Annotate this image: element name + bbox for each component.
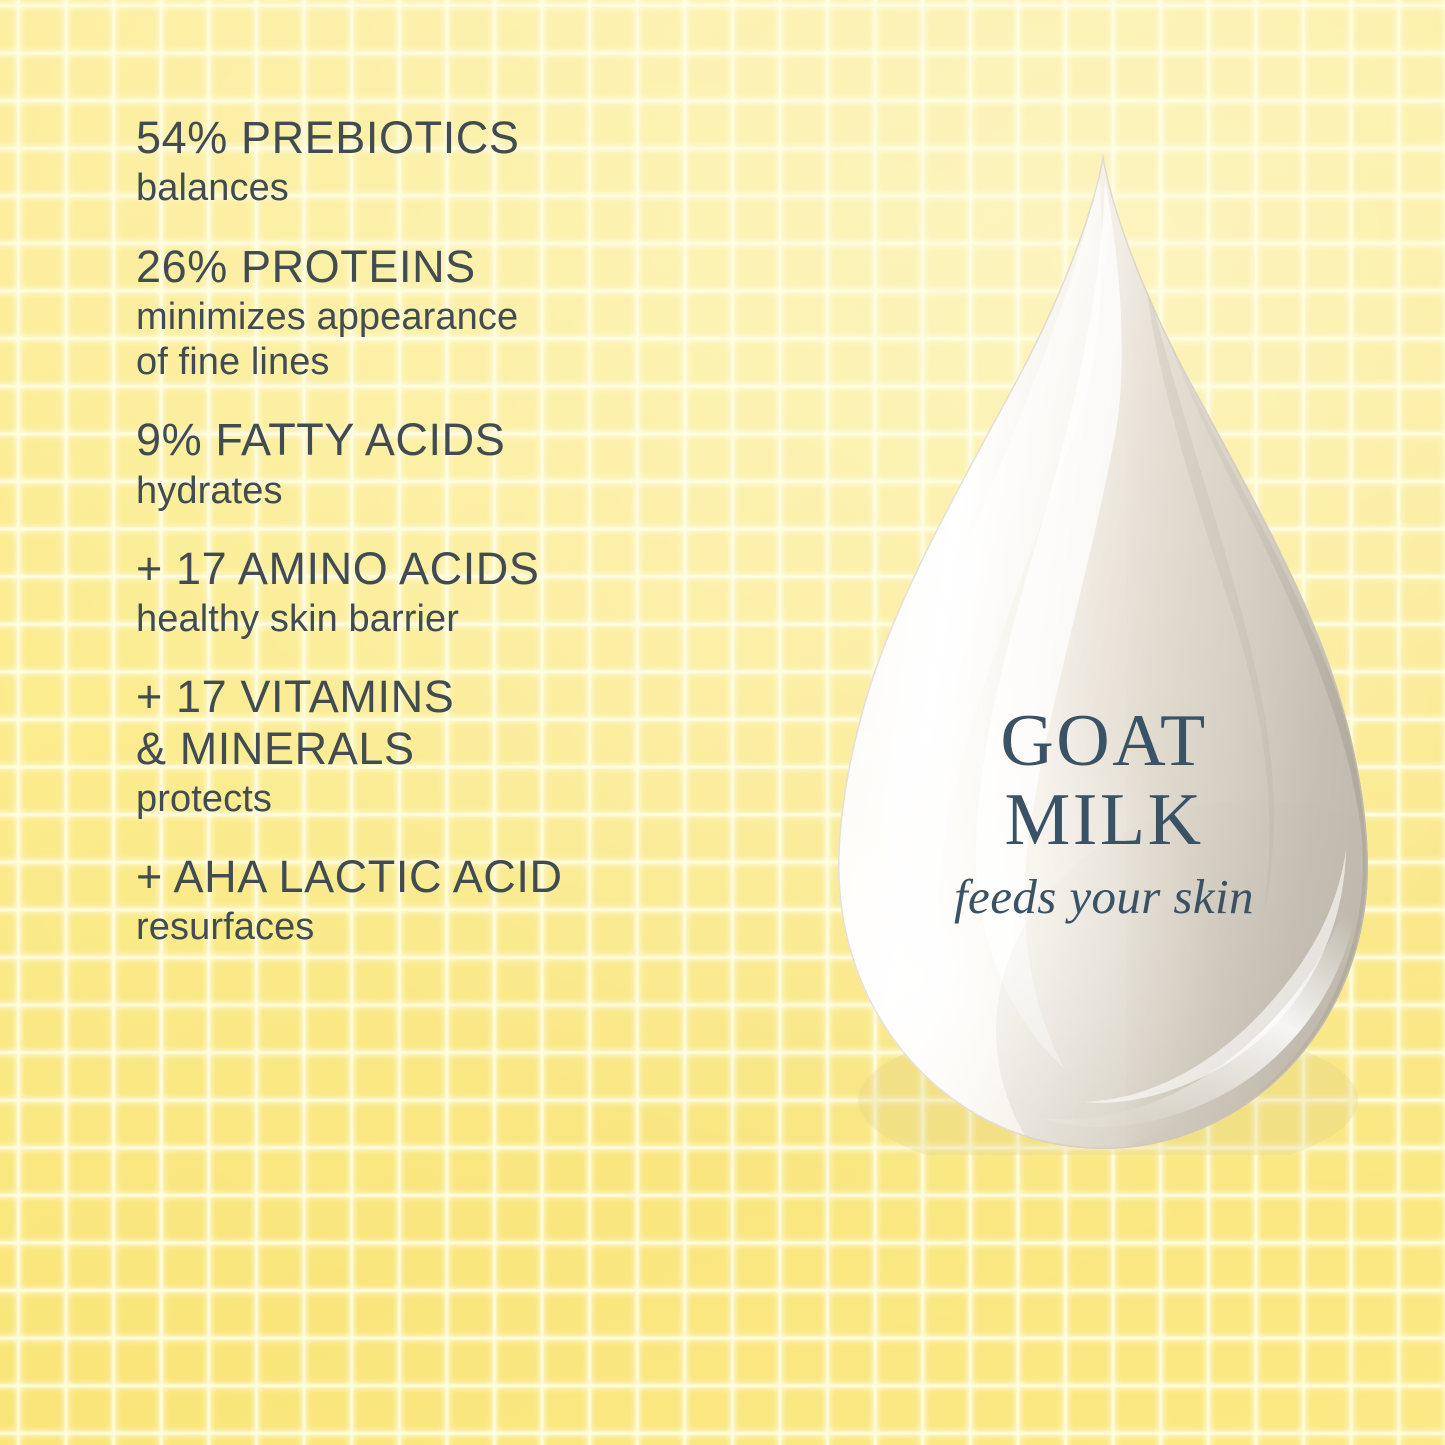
benefit-headline: + 17 AMINO ACIDS [136,543,826,594]
benefit-item-amino-acids: + 17 AMINO ACIDS healthy skin barrier [136,543,826,643]
benefit-subtext: minimizes appearance of fine lines [136,295,826,385]
benefit-headline: 26% PROTEINS [136,241,826,292]
benefit-subtext: healthy skin barrier [136,597,826,642]
benefit-item-prebiotics: 54% PREBIOTICS balances [136,112,826,212]
benefit-subtext: hydrates [136,469,826,514]
milk-droplet-icon [826,150,1382,1155]
benefit-subtext: balances [136,166,826,211]
benefit-headline: + 17 VITAMINS & MINERALS [136,671,826,774]
benefit-item-vitamins-minerals: + 17 VITAMINS & MINERALS protects [136,671,826,822]
benefits-list: 54% PREBIOTICS balances 26% PROTEINS min… [136,112,826,980]
benefit-headline: 9% FATTY ACIDS [136,414,826,465]
droplet-tagline: feeds your skin [826,870,1382,924]
goat-milk-infographic: 54% PREBIOTICS balances 26% PROTEINS min… [0,0,1445,1445]
benefit-item-proteins: 26% PROTEINS minimizes appearance of fin… [136,241,826,386]
benefit-subtext: protects [136,777,826,822]
droplet-text-block: GOAT MILK feeds your skin [826,705,1382,924]
droplet-title-line1: GOAT [826,705,1382,778]
droplet-title-line2: MILK [826,782,1382,858]
benefit-headline: + AHA LACTIC ACID [136,851,826,902]
benefit-subtext: resurfaces [136,905,826,950]
benefit-item-aha-lactic-acid: + AHA LACTIC ACID resurfaces [136,851,826,951]
milk-droplet: GOAT MILK feeds your skin [826,150,1382,1155]
benefit-headline: 54% PREBIOTICS [136,112,826,163]
benefit-item-fatty-acids: 9% FATTY ACIDS hydrates [136,414,826,514]
